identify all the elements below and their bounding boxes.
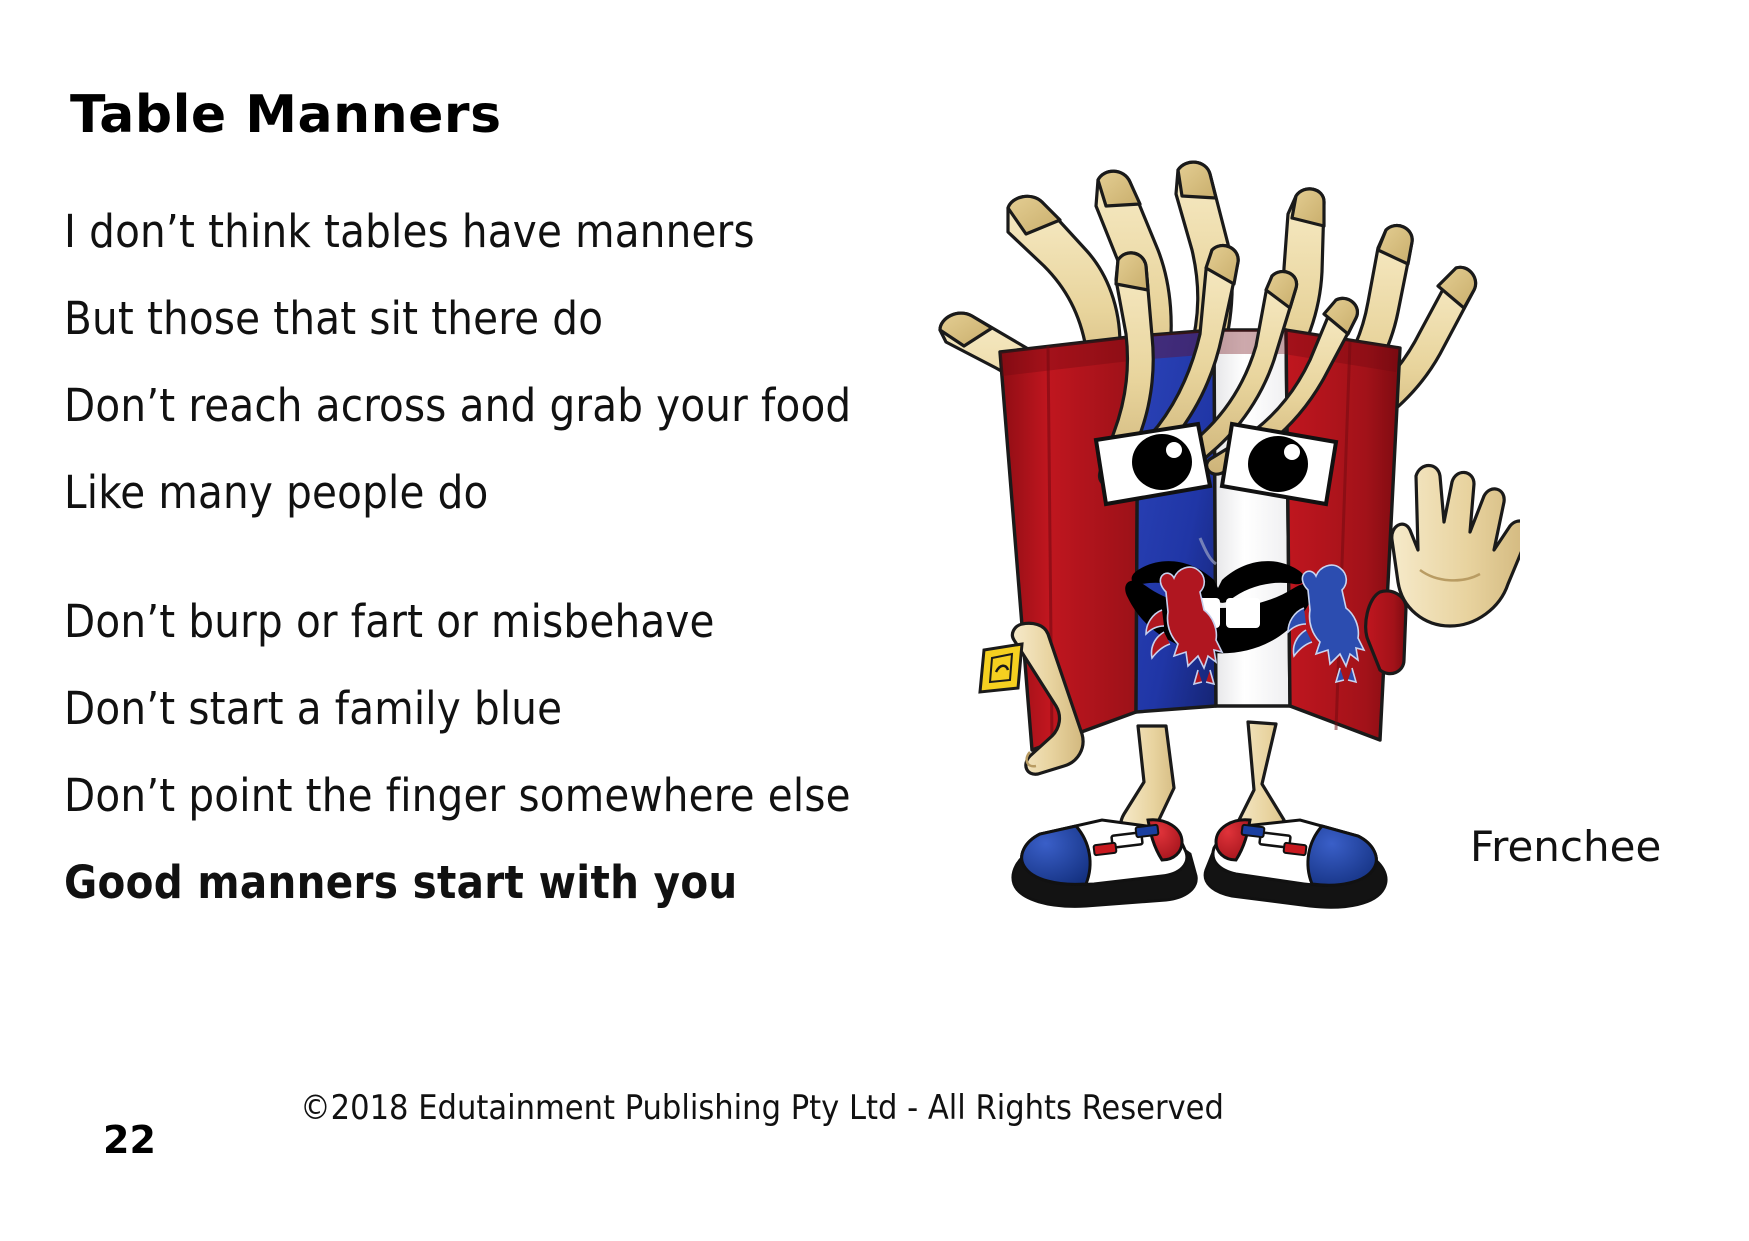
poem-line: I don’t think tables have manners [64,188,924,275]
poem-line: Like many people do [64,449,924,536]
shoe-left [1013,820,1196,907]
page-number: 22 [103,1118,156,1162]
poem-line: Don’t reach across and grab your food [64,362,924,449]
poem-stanza-2: Don’t burp or fart or misbehave Don’t st… [64,578,924,926]
warning-badge-icon [980,644,1022,692]
poem-line-emphasis: Good manners start with you [64,839,924,926]
poem-line: Don’t burp or fart or misbehave [64,578,924,665]
shoe-right [1205,820,1386,907]
poem-line: But those that sit there do [64,275,924,362]
page-canvas: Table Manners I don’t think tables have … [0,0,1749,1241]
poem-body: I don’t think tables have manners But th… [64,188,924,968]
character-name-label: Frenchee [1470,822,1661,871]
page-title: Table Manners [70,87,502,144]
copyright-notice: ©2018 Edutainment Publishing Pty Ltd - A… [0,1088,1749,1128]
poem-line: Don’t point the finger somewhere else [64,752,924,839]
poem-line: Don’t start a family blue [64,665,924,752]
hand-right [1392,466,1520,627]
frenchee-character-illustration [880,140,1520,910]
poem-stanza-1: I don’t think tables have manners But th… [64,188,924,536]
